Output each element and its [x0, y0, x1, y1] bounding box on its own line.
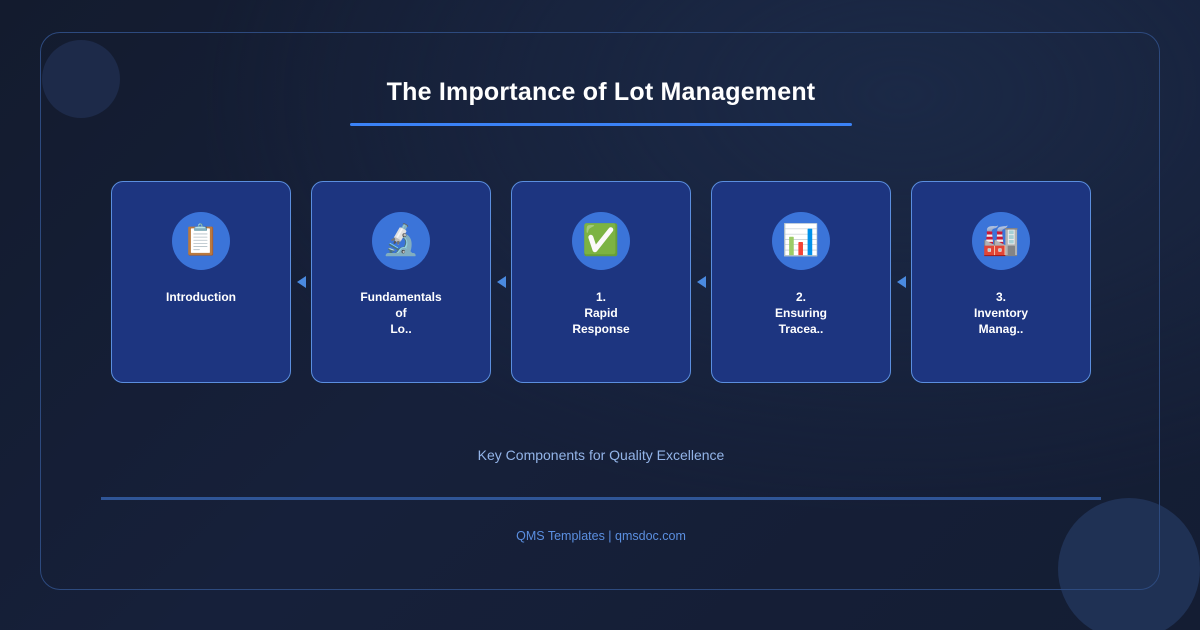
arrow-left-icon [697, 276, 706, 288]
arrow-left-icon [897, 276, 906, 288]
footer-attribution: QMS Templates | qmsdoc.com [41, 529, 1161, 543]
arrow-left-icon [497, 276, 506, 288]
microscope-icon: 🔬 [372, 212, 430, 270]
slide-header: The Importance of Lot Management [41, 33, 1161, 126]
flow-card-rapid-response[interactable]: ✅ 1. Rapid Response [511, 181, 691, 383]
flow-card-label: Fundamentals of Lo.. [326, 289, 476, 337]
bar-chart-icon: 📊 [772, 212, 830, 270]
flow-card-fundamentals[interactable]: 🔬 Fundamentals of Lo.. [311, 181, 491, 383]
flow-card-label: 3. Inventory Manag.. [926, 289, 1076, 337]
connector-arrow-1 [291, 181, 311, 383]
flow-card-ensuring-traceability[interactable]: 📊 2. Ensuring Tracea.. [711, 181, 891, 383]
check-mark-button-icon: ✅ [572, 212, 630, 270]
flow-card-label: 2. Ensuring Tracea.. [726, 289, 876, 337]
flow-card-introduction[interactable]: 📋 Introduction [111, 181, 291, 383]
flow-card-label: Introduction [126, 289, 276, 305]
arrow-left-icon [297, 276, 306, 288]
subtitle: Key Components for Quality Excellence [41, 447, 1161, 463]
connector-arrow-4 [891, 181, 911, 383]
flow-card-label: 1. Rapid Response [526, 289, 676, 337]
connector-arrow-2 [491, 181, 511, 383]
process-flow-cards: 📋 Introduction 🔬 Fundamentals of Lo.. ✅ … [111, 181, 1091, 383]
connector-arrow-3 [691, 181, 711, 383]
slide-panel: The Importance of Lot Management 📋 Intro… [40, 32, 1160, 590]
factory-icon: 🏭 [972, 212, 1030, 270]
title-underline [350, 123, 852, 126]
flow-card-inventory-management[interactable]: 🏭 3. Inventory Manag.. [911, 181, 1091, 383]
footer-divider [101, 497, 1101, 500]
page-title: The Importance of Lot Management [41, 33, 1161, 107]
clipboard-icon: 📋 [172, 212, 230, 270]
